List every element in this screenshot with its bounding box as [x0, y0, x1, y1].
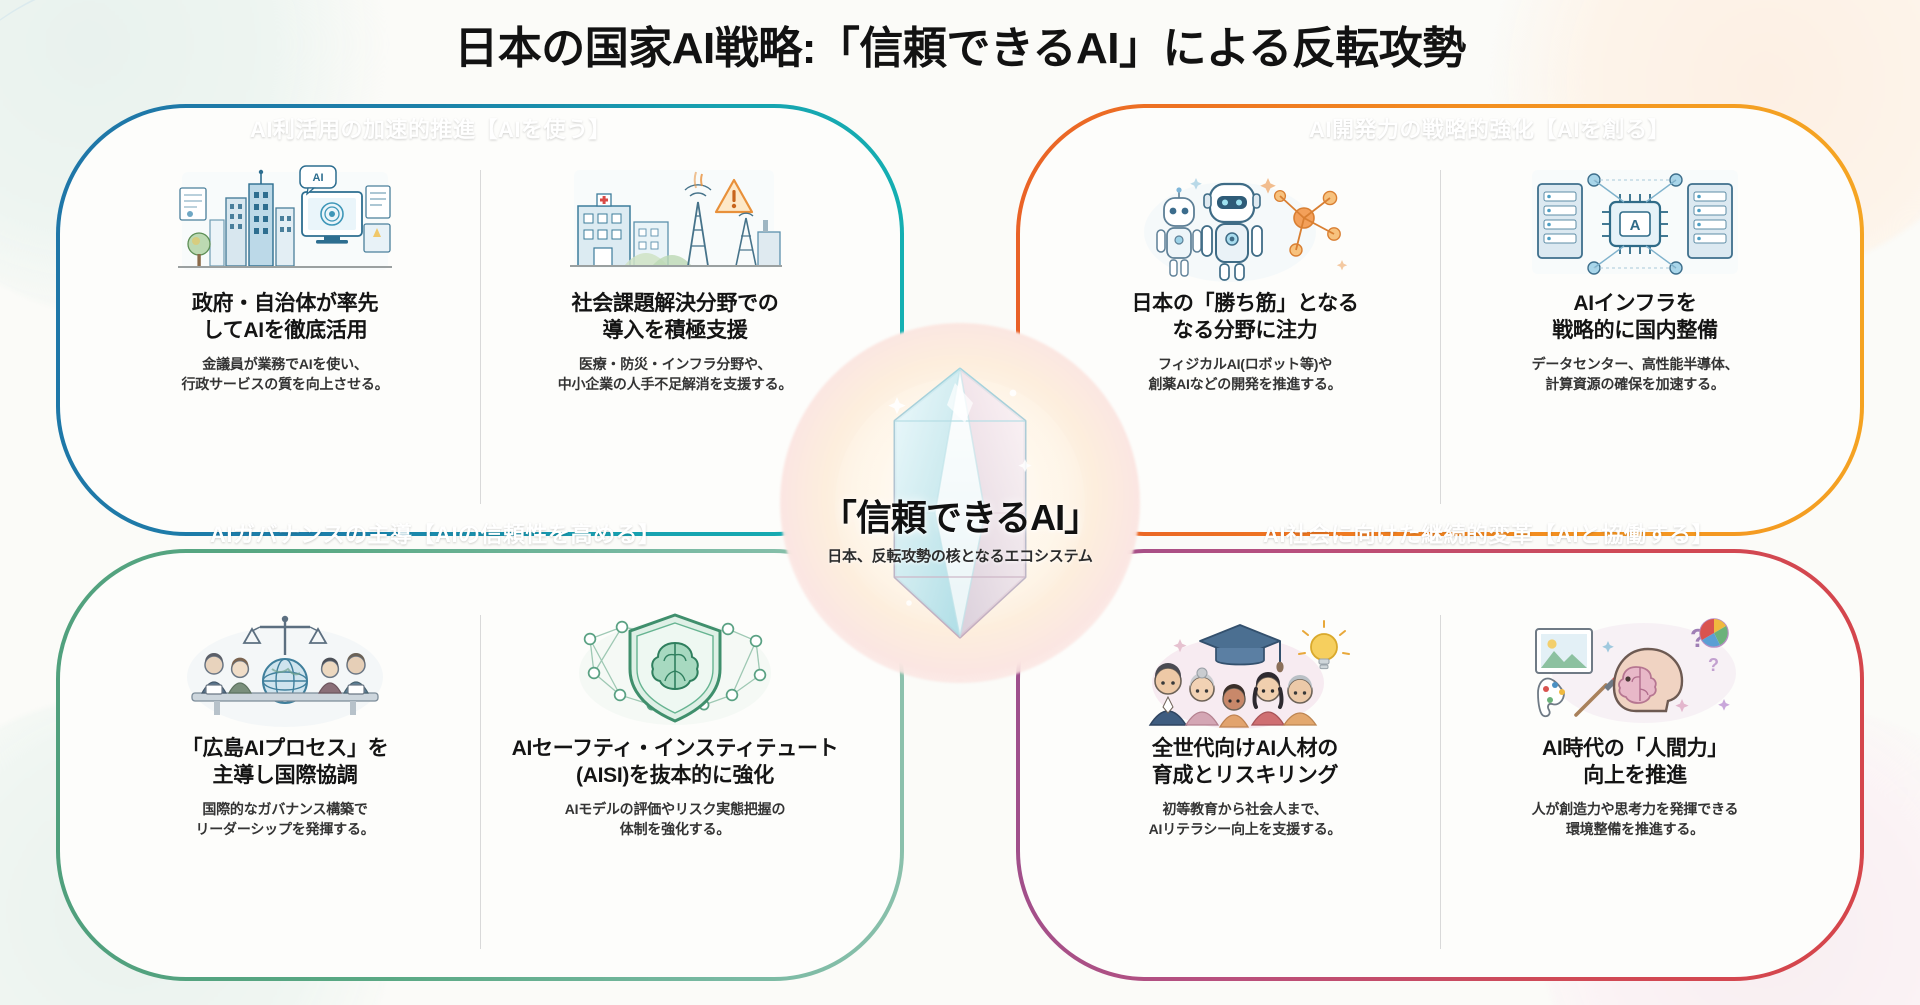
card-description: データセンター、高性能半導体、 計算資源の確保を加速する。 — [1532, 354, 1739, 395]
quadrant-collaborate-ai-header: AI社会に向けた継続的変革【AIと協働する】 — [1263, 517, 1714, 549]
page-title: 日本の国家AI戦略:「信頼できるAI」による反転攻勢 — [0, 12, 1920, 76]
card-hiroshima-ai-process[interactable]: 「広島AIプロセス」を 主導し国際協調 国際的なガバナンス構築で リーダーシップ… — [90, 599, 480, 959]
card-description: フィジカルAI(ロボット等)や 創薬AIなどの開発を推進する。 — [1149, 354, 1342, 395]
social-infrastructure-icon — [494, 160, 856, 286]
card-title: 「広島AIプロセス」を 主導し国際協調 — [182, 735, 389, 790]
smart-city-government-icon: AI — [104, 160, 466, 286]
human-creativity-icon: ? ? — [1454, 605, 1816, 731]
card-description: 初等教育から社会人まで、 AIリテラシー向上を支援する。 — [1149, 799, 1342, 840]
quadrant-govern-ai-header: AIガバナンスの主導【AIの信頼性を高める】 — [210, 517, 661, 549]
hub-title: 「信頼できるAI」 — [821, 489, 1099, 541]
card-title: 社会課題解決分野での 導入を積極支援 — [572, 290, 779, 345]
card-description: 国際的なガバナンス構築で リーダーシップを発揮する。 — [195, 799, 374, 840]
humanoid-robot-icon — [1064, 160, 1426, 286]
card-government-ai-adoption[interactable]: AI 政府・自治体が率先 してAIを徹底活用 金議員が業務でAIを使い、 行政サ… — [90, 154, 480, 514]
card-title: 政府・自治体が率先 してAIを徹底活用 — [192, 290, 378, 345]
datacenter-chip-icon: A — [1454, 160, 1816, 286]
card-description: AIモデルの評価やリスク実態把握の 体制を強化する。 — [565, 799, 786, 840]
svg-text:AI: AI — [313, 172, 324, 184]
svg-text:A: A — [1630, 217, 1641, 234]
hub-subtitle: 日本、反転攻勢の核となるエコシステム — [821, 545, 1099, 566]
quadrant-use-ai-header: AI利活用の加速的推進【AIを使う】 — [250, 112, 611, 144]
card-title: AI時代の「人間力」 向上を推進 — [1542, 735, 1728, 790]
card-title: AIセーフティ・インスティテュート (AISI)を抜本的に強化 — [512, 735, 839, 790]
hub-label-group: 「信頼できるAI」 日本、反転攻勢の核となるエコシステム — [821, 489, 1099, 566]
card-description: 金議員が業務でAIを使い、 行政サービスの質を向上させる。 — [182, 354, 389, 395]
card-human-capability[interactable]: ? ? AI時代の「人間力」 向上を推進 人 — [1440, 599, 1830, 959]
international-summit-icon — [104, 605, 466, 731]
svg-text:?: ? — [1708, 655, 1719, 675]
card-ai-infrastructure[interactable]: A — [1440, 154, 1830, 514]
card-title: AIインフラを 戦略的に国内整備 — [1552, 290, 1718, 345]
card-description: 人が創造力や思考力を発揮できる 環境整備を推進する。 — [1532, 799, 1739, 840]
center-hub: 「信頼できるAI」 日本、反転攻勢の核となるエコシステム — [750, 293, 1170, 713]
card-title: 全世代向けAI人材の 育成とリスキリング — [1152, 735, 1338, 790]
quadrant-create-ai-header: AI開発力の戦略的強化【AIを創る】 — [1309, 112, 1670, 144]
